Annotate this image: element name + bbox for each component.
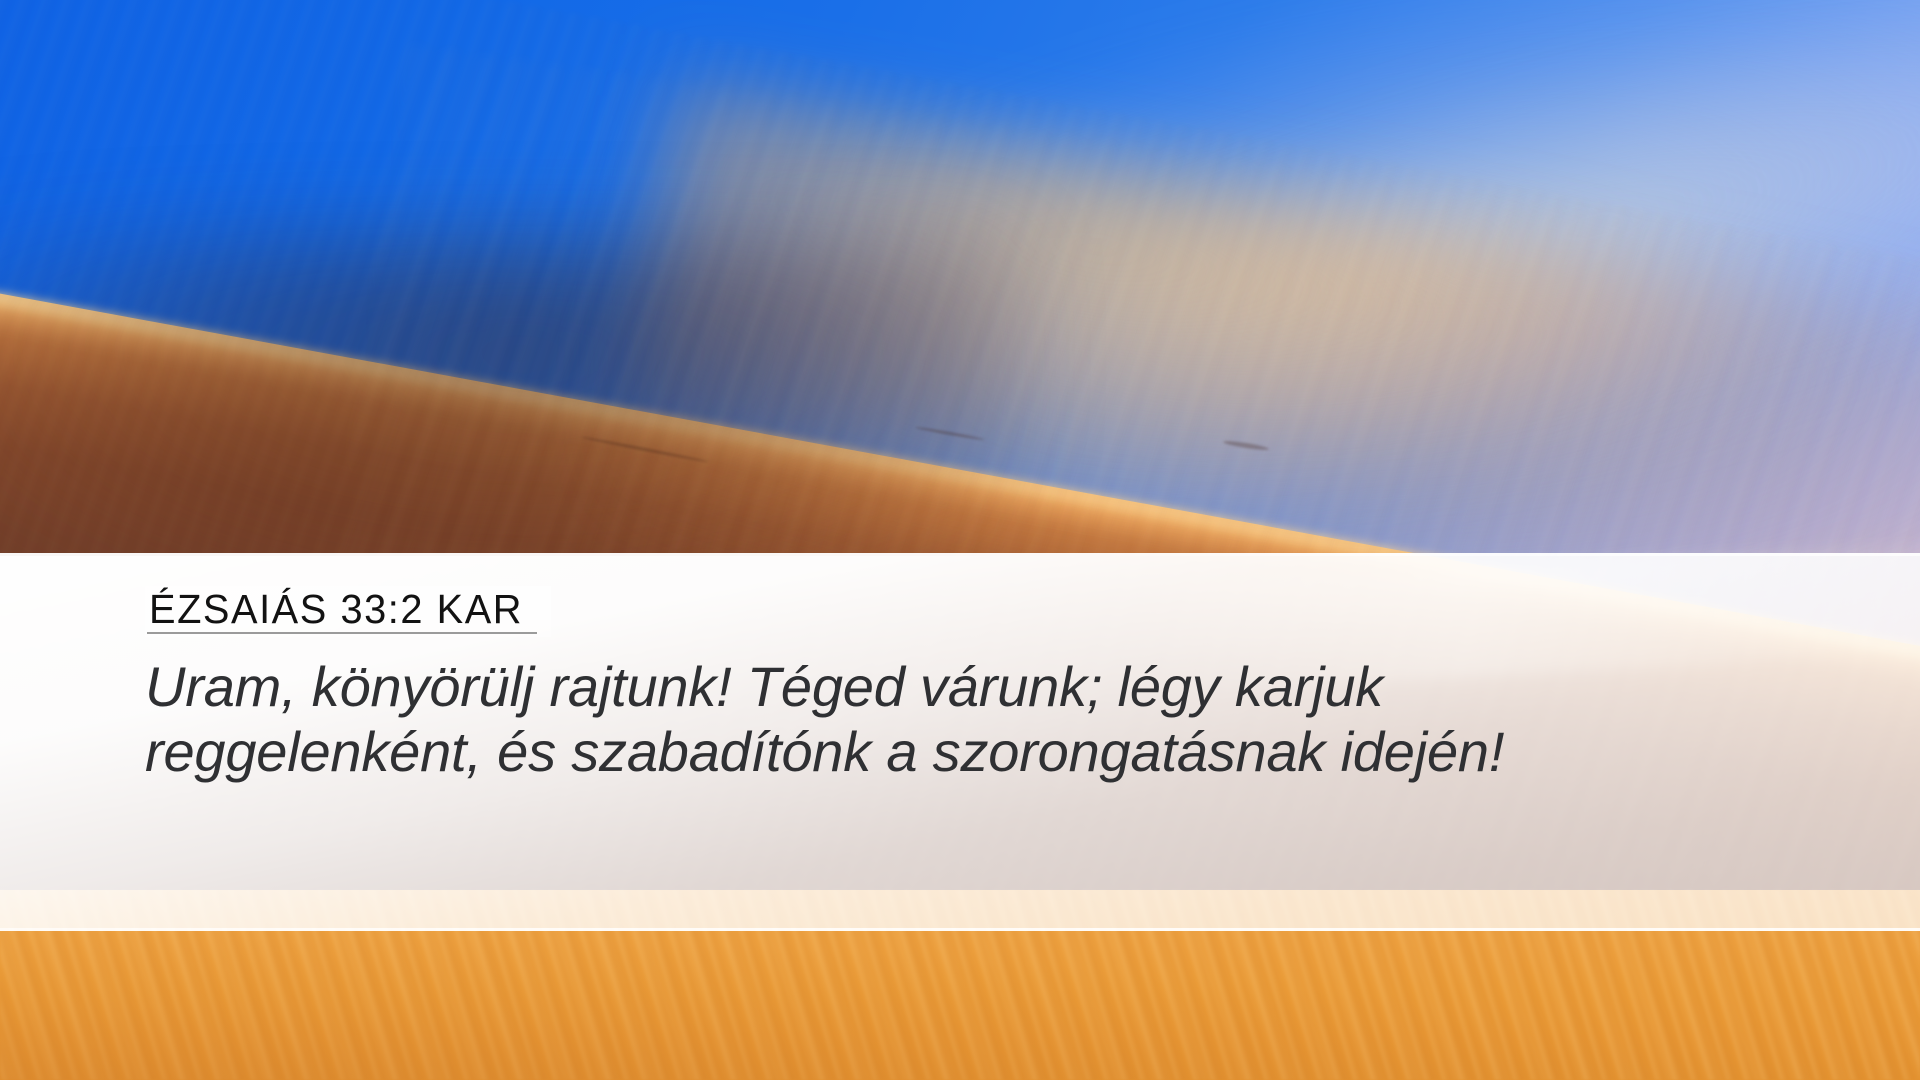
verse-text: Uram, könyörülj rajtunk! Téged várunk; l… xyxy=(145,655,1565,785)
overlay-top-divider xyxy=(0,553,1920,556)
scripture-reference-underline xyxy=(147,632,537,634)
overlay-bottom-divider xyxy=(0,928,1920,931)
verse-overlay-panel: ÉZSAIÁS 33:2 KAR Uram, könyörülj rajtunk… xyxy=(0,556,1920,928)
scripture-reference-block: ÉZSAIÁS 33:2 KAR xyxy=(145,586,551,637)
verse-slide: ÉZSAIÁS 33:2 KAR Uram, könyörülj rajtunk… xyxy=(0,0,1920,1080)
verse-line: Uram, könyörülj rajtunk! Téged várunk; l… xyxy=(145,655,1383,718)
scripture-reference: ÉZSAIÁS 33:2 KAR xyxy=(149,588,523,631)
verse-overlay-content: ÉZSAIÁS 33:2 KAR Uram, könyörülj rajtunk… xyxy=(145,586,1800,785)
verse-line: reggelenként, és szabadítónk a szorongat… xyxy=(145,720,1504,783)
